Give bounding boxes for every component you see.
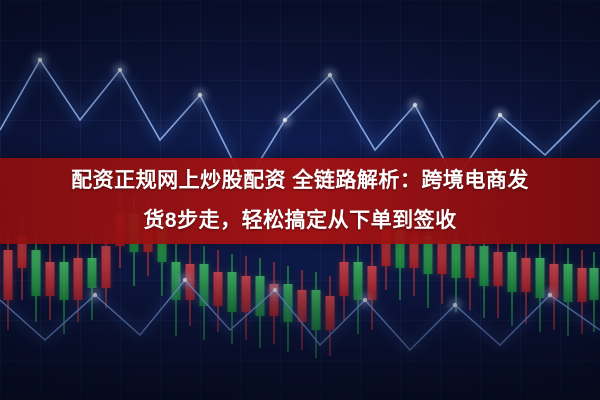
title-line-2: 货8步走，轻松搞定从下单到签收 — [143, 201, 456, 241]
title-line-1: 配资正规网上炒股配资 全链路解析：跨境电商发 — [71, 161, 529, 201]
title-banner: 配资正规网上炒股配资 全链路解析：跨境电商发 货8步走，轻松搞定从下单到签收 — [0, 158, 600, 244]
banner-image: 配资正规网上炒股配资 全链路解析：跨境电商发 货8步走，轻松搞定从下单到签收 — [0, 0, 600, 400]
